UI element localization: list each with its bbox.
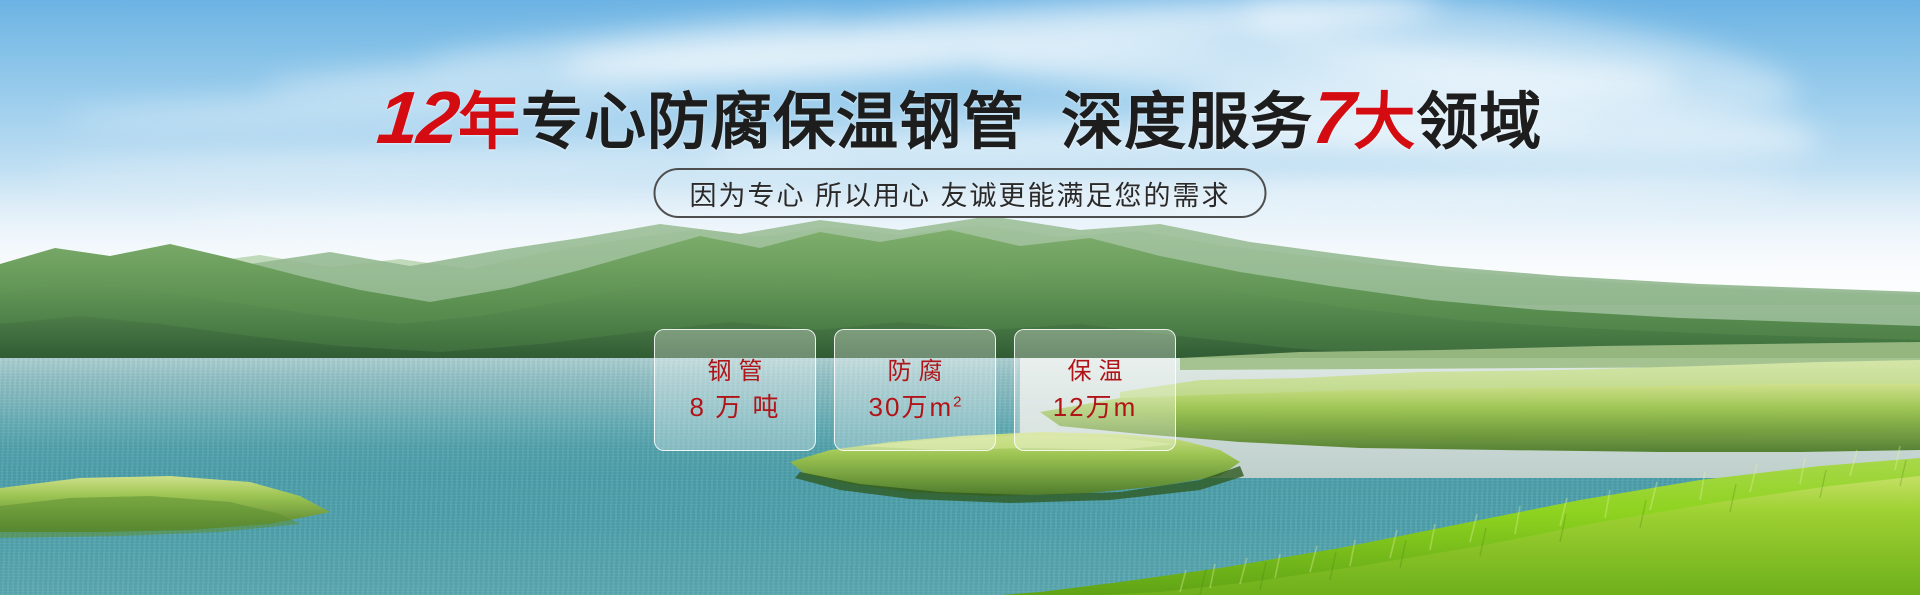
stat-card-steel-pipe[interactable]: 钢管 8 万 吨 [654, 329, 816, 451]
headline-main-text: 专心防腐保温钢管 [521, 88, 1025, 157]
stat-card-insulation[interactable]: 保温 12万m [1014, 329, 1176, 451]
hero-banner: 12年专心防腐保温钢管深度服务7大领域 因为专心 所以用心 友诚更能满足您的需求… [0, 0, 1920, 595]
stat-card-label: 防腐 [881, 360, 950, 384]
headline-years-unit: 年 [458, 88, 521, 157]
stat-card-label: 保温 [1061, 360, 1130, 384]
banner-headline: 12年专心防腐保温钢管深度服务7大领域 [0, 86, 1920, 155]
stat-card-value: 8 万 吨 [690, 394, 781, 420]
stat-card-value-sup: 2 [953, 393, 961, 410]
stat-card-group: 钢管 8 万 吨 防腐 30万m2 保温 12万m [654, 329, 1176, 451]
headline-fields-text: 领域 [1416, 88, 1542, 157]
stat-card-label: 钢管 [701, 360, 770, 384]
stat-card-anticorrosion[interactable]: 防腐 30万m2 [834, 329, 996, 451]
subtitle-text: 因为专心 所以用心 友诚更能满足您的需求 [689, 174, 1230, 213]
stat-card-value: 12万m [1053, 394, 1138, 420]
stat-card-value: 30万m2 [869, 394, 962, 420]
headline-years-number: 12 [374, 86, 461, 150]
headline-fields-unit: 大 [1353, 88, 1416, 157]
headline-service-text: 深度服务 [1061, 88, 1313, 157]
headline-fields-number: 7 [1310, 86, 1357, 150]
subtitle-pill: 因为专心 所以用心 友诚更能满足您的需求 [653, 168, 1266, 218]
